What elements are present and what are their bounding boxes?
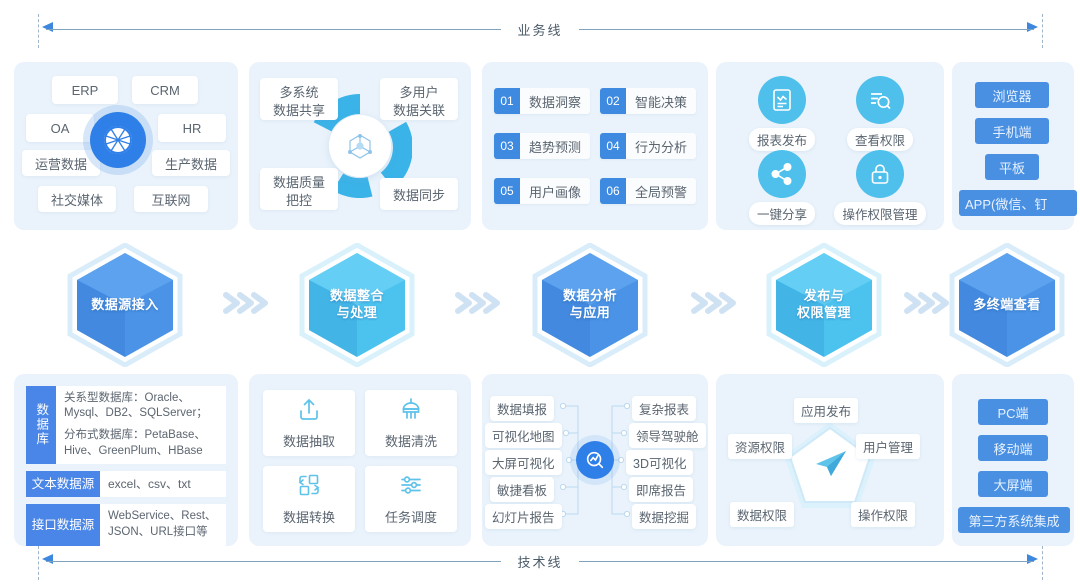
- numrow-06-label: 全局预警: [626, 178, 696, 204]
- db-relational-text: 关系型数据库：Oracle、Mysql、DB2、SQLServer；: [64, 391, 218, 422]
- numrow-01-number: 01: [494, 88, 520, 114]
- axis-line-left: [46, 29, 501, 30]
- chip-hr[interactable]: HR: [158, 114, 226, 142]
- stage-hex-publish-permission-label: 发布与权限管理: [765, 243, 883, 367]
- connector-chevrons-1: [220, 288, 272, 318]
- one-click-share-label: 一键分享: [749, 202, 815, 225]
- terminal-button-tablet[interactable]: 平板: [985, 154, 1039, 180]
- infographic-root: 业务线 ERP CRM OA HR 运营数据 生产数据 社交媒体 互联网: [0, 0, 1080, 588]
- terminal-tech-button-bigscreen[interactable]: 大屏端: [978, 471, 1048, 497]
- axis-bottom-dash-right: [1042, 546, 1043, 580]
- chip-data-quality-control[interactable]: 数据质量把控: [260, 168, 338, 210]
- chip-operation-data[interactable]: 运营数据: [22, 150, 100, 176]
- mm-chip-adhoc-report[interactable]: 即席报告: [629, 477, 693, 502]
- axis-dash-right: [1042, 14, 1043, 48]
- panel-dataprocess-tech: 数据抽取 数据清洗: [249, 374, 471, 546]
- report-publish-icon: [758, 76, 806, 124]
- terminal-button-app[interactable]: APP(微信、钉: [959, 190, 1077, 216]
- tile-task-schedule[interactable]: 任务调度: [365, 466, 457, 532]
- tile-task-schedule-label: 任务调度: [385, 507, 437, 526]
- panel-analysis-tech: 数据填报 可视化地图 大屏可视化 敏捷看板 幻灯片报告 复杂报表 领导驾驶舱 3…: [482, 374, 708, 546]
- panel-data-integration: 多系统数据共享 多用户数据关联 数据质量把控 数据同步: [249, 62, 471, 230]
- circle-item-one-click-share[interactable]: 一键分享: [734, 150, 830, 225]
- stage-hex-data-integration[interactable]: 数据整合与处理: [298, 243, 416, 367]
- panel-data-source-inputs: ERP CRM OA HR 运营数据 生产数据 社交媒体 互联网: [14, 62, 238, 230]
- panel-data-analysis-items: 01 数据洞察 02 智能决策 03 趋势预测 04 行为分析 05 用户画像 …: [482, 62, 708, 230]
- mm-chip-3d-visual[interactable]: 3D可视化: [626, 450, 693, 475]
- numrow-05-number: 05: [494, 178, 520, 204]
- db-row-textsource[interactable]: 文本数据源 excel、csv、txt: [26, 471, 226, 497]
- pent-chip-resource-permission[interactable]: 资源权限: [728, 434, 792, 459]
- numrow-05[interactable]: 05 用户画像: [494, 178, 590, 204]
- stage-hex-multi-terminal-label: 多终端查看: [948, 243, 1066, 367]
- db-row-textsource-body: excel、csv、txt: [100, 471, 226, 497]
- chip-production-data[interactable]: 生产数据: [152, 150, 230, 176]
- terminal-tech-button-3rd-party[interactable]: 第三方系统集成: [958, 507, 1070, 533]
- axis-bottom-arrow-right-icon: [1027, 554, 1038, 564]
- numrow-01-label: 数据洞察: [520, 88, 590, 114]
- technology-line-label: 技术线: [501, 550, 578, 573]
- mm-chip-complex-report[interactable]: 复杂报表: [632, 396, 696, 421]
- report-publish-label: 报表发布: [749, 128, 815, 151]
- mm-chip-bigscreen-visual[interactable]: 大屏可视化: [485, 450, 562, 475]
- mm-chip-leader-cockpit[interactable]: 领导驾驶舱: [629, 423, 706, 448]
- tile-data-extract-label: 数据抽取: [283, 431, 335, 450]
- chip-multi-user-relation[interactable]: 多用户数据关联: [380, 78, 458, 120]
- panel-datasource-tech: 数据库 关系型数据库：Oracle、Mysql、DB2、SQLServer； 分…: [14, 374, 238, 546]
- db-distributed-text: 分布式数据库：PetaBase、Hive、GreenPlum、HBase: [64, 428, 218, 459]
- mm-chip-data-mining[interactable]: 数据挖掘: [632, 504, 696, 529]
- numrow-05-label: 用户画像: [520, 178, 590, 204]
- numrow-04[interactable]: 04 行为分析: [600, 133, 696, 159]
- db-row-textsource-tag: 文本数据源: [26, 471, 100, 497]
- terminal-button-mobile[interactable]: 手机端: [975, 118, 1049, 144]
- chip-multi-system-share[interactable]: 多系统数据共享: [260, 78, 338, 120]
- data-extract-upload-icon: [296, 396, 322, 427]
- data-clean-brush-icon: [398, 396, 424, 427]
- chip-data-sync[interactable]: 数据同步: [380, 178, 458, 210]
- operation-permission-label: 操作权限管理: [834, 202, 925, 225]
- axis-arrow-right-icon: [1027, 22, 1038, 32]
- db-row-database[interactable]: 数据库 关系型数据库：Oracle、Mysql、DB2、SQLServer； 分…: [26, 386, 226, 464]
- chip-erp[interactable]: ERP: [52, 76, 118, 104]
- stage-hex-data-analysis-label: 数据分析与应用: [531, 243, 649, 367]
- stage-hex-data-source[interactable]: 数据源接入: [66, 243, 184, 367]
- circle-item-view-permission[interactable]: 查看权限: [832, 76, 928, 151]
- mm-chip-agile-dashboard[interactable]: 敏捷看板: [490, 477, 554, 502]
- stage-hex-multi-terminal[interactable]: 多终端查看: [948, 243, 1066, 367]
- globe-network-icon: [90, 112, 146, 168]
- chip-crm[interactable]: CRM: [132, 76, 198, 104]
- numrow-03-number: 03: [494, 133, 520, 159]
- analytics-search-icon: [576, 441, 614, 479]
- chip-data-quality-control-label: 数据质量把控: [273, 168, 325, 209]
- numrow-03-label: 趋势预测: [520, 133, 590, 159]
- connector-chevrons-4: [901, 288, 953, 318]
- panel-permission-tech: 应用发布 资源权限 用户管理 数据权限 操作权限: [716, 374, 944, 546]
- numrow-03[interactable]: 03 趋势预测: [494, 133, 590, 159]
- stage-hex-data-analysis[interactable]: 数据分析与应用: [531, 243, 649, 367]
- technology-line-axis: 技术线: [0, 540, 1080, 586]
- panel-terminal-tech: PC端 移动端 大屏端 第三方系统集成: [952, 374, 1074, 546]
- chip-oa[interactable]: OA: [26, 114, 94, 142]
- db-row-database-tag: 数据库: [26, 386, 56, 464]
- lock-permission-icon: [856, 150, 904, 198]
- chip-multi-system-share-label: 多系统数据共享: [273, 78, 325, 119]
- task-schedule-sliders-icon: [398, 472, 424, 503]
- share-nodes-icon: [758, 150, 806, 198]
- business-line-label: 业务线: [501, 18, 578, 41]
- view-permission-label: 查看权限: [847, 128, 913, 151]
- stage-hex-publish-permission[interactable]: 发布与权限管理: [765, 243, 883, 367]
- numrow-06-number: 06: [600, 178, 626, 204]
- circle-item-operation-permission[interactable]: 操作权限管理: [832, 150, 928, 225]
- numrow-01[interactable]: 01 数据洞察: [494, 88, 590, 114]
- numrow-02-number: 02: [600, 88, 626, 114]
- tile-data-transform[interactable]: 数据转换: [263, 466, 355, 532]
- terminal-tech-button-mobile[interactable]: 移动端: [978, 435, 1048, 461]
- chip-internet[interactable]: 互联网: [134, 186, 208, 212]
- circle-item-report-publish[interactable]: 报表发布: [734, 76, 830, 151]
- pent-chip-data-permission[interactable]: 数据权限: [730, 502, 794, 527]
- axis-bottom-line-left: [46, 561, 501, 562]
- pent-chip-operation-permission[interactable]: 操作权限: [851, 502, 915, 527]
- tile-data-transform-label: 数据转换: [283, 507, 335, 526]
- db-row-database-body: 关系型数据库：Oracle、Mysql、DB2、SQLServer； 分布式数据…: [56, 386, 226, 464]
- chip-multi-user-relation-label: 多用户数据关联: [393, 78, 445, 119]
- panel-multi-terminal: 浏览器 手机端 平板 APP(微信、钉: [952, 62, 1074, 230]
- mm-chip-visual-map[interactable]: 可视化地图: [485, 423, 562, 448]
- data-transform-icon: [296, 472, 322, 503]
- view-permission-search-icon: [856, 76, 904, 124]
- axis-line-right: [579, 29, 1034, 30]
- tile-data-clean-label: 数据清洗: [385, 431, 437, 450]
- numrow-02[interactable]: 02 智能决策: [600, 88, 696, 114]
- axis-bottom-arrow-left-icon: [42, 554, 53, 564]
- mm-chip-slide-report[interactable]: 幻灯片报告: [485, 504, 562, 529]
- numrow-04-number: 04: [600, 133, 626, 159]
- molecule-node-icon: [329, 115, 391, 177]
- mm-chip-data-fill[interactable]: 数据填报: [490, 396, 554, 421]
- panel-publish-permissions: 报表发布 查看权限: [716, 62, 944, 230]
- stage-hex-data-integration-label: 数据整合与处理: [298, 243, 416, 367]
- pent-chip-user-management[interactable]: 用户管理: [856, 434, 920, 459]
- axis-bottom-dash-left: [38, 546, 39, 580]
- tile-data-extract[interactable]: 数据抽取: [263, 390, 355, 456]
- tile-data-clean[interactable]: 数据清洗: [365, 390, 457, 456]
- chip-social-media[interactable]: 社交媒体: [38, 186, 116, 212]
- numrow-02-label: 智能决策: [626, 88, 696, 114]
- numrow-04-label: 行为分析: [626, 133, 696, 159]
- terminal-button-browser[interactable]: 浏览器: [975, 82, 1049, 108]
- numrow-06[interactable]: 06 全局预警: [600, 178, 696, 204]
- axis-arrow-left-icon: [42, 22, 53, 32]
- pent-chip-app-publish[interactable]: 应用发布: [794, 398, 858, 423]
- terminal-tech-button-pc[interactable]: PC端: [978, 399, 1048, 425]
- connector-chevrons-3: [688, 288, 740, 318]
- business-line-axis: 业务线: [0, 8, 1080, 54]
- stage-hex-data-source-label: 数据源接入: [66, 243, 184, 367]
- axis-bottom-line-right: [579, 561, 1034, 562]
- axis-dash-left: [38, 14, 39, 48]
- connector-chevrons-2: [452, 288, 504, 318]
